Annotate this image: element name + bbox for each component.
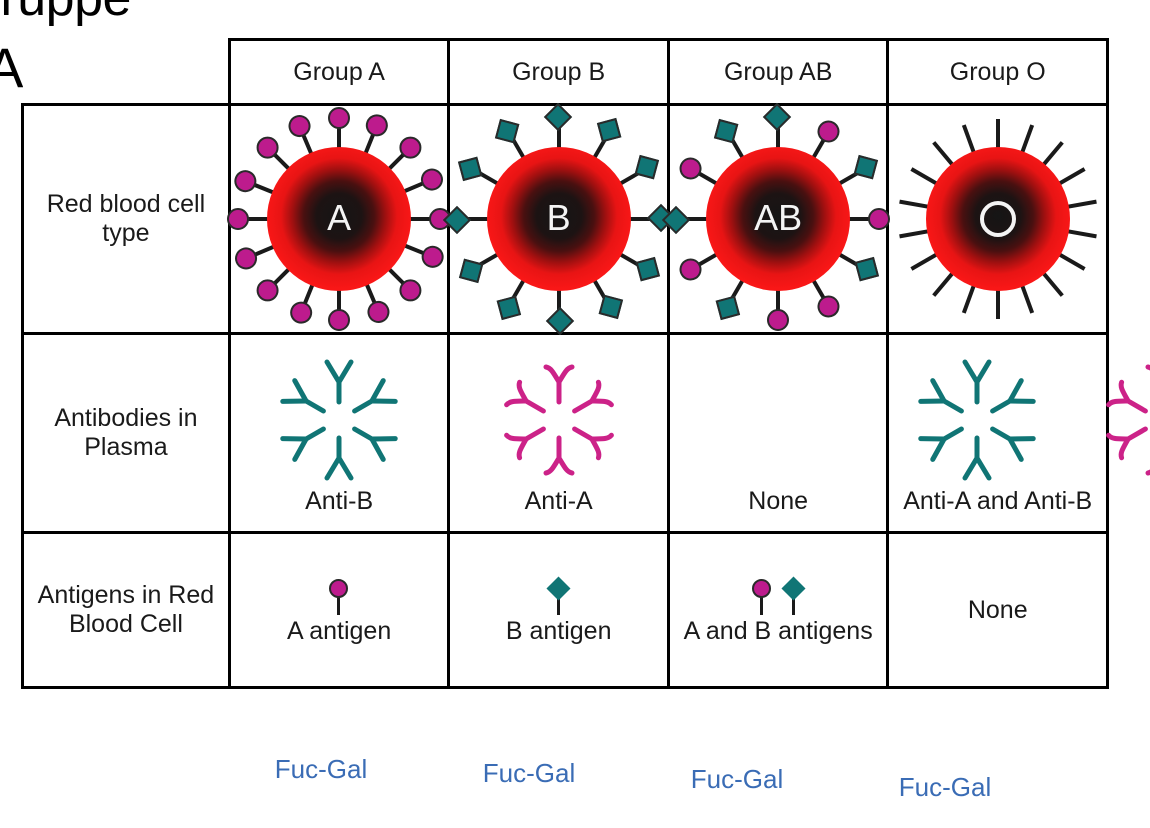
antibody-cell-group-b: Anti-A	[449, 334, 669, 533]
antibody-cluster-magenta	[1073, 354, 1150, 486]
row-label-red-blood-cell-type: Red blood cell type	[23, 105, 230, 334]
a-antigen-icon	[749, 577, 775, 615]
fuc-gal-label-group-o: Fuc-Gal	[841, 756, 1049, 806]
rbc-letter-a: A	[327, 197, 351, 239]
rbc-graphic-o	[898, 114, 1098, 324]
table-row: Antigens in Red Blood Cell A antigen B a…	[23, 533, 1108, 688]
rbc-graphic-a: A	[239, 114, 439, 324]
b-antigen-icon	[781, 577, 807, 615]
antibody-cluster-teal	[251, 354, 427, 486]
antibody-caption-o: Anti-A and Anti-B	[889, 488, 1106, 516]
corner-blank-cell	[23, 40, 230, 105]
column-header-group-o: Group O	[888, 40, 1108, 105]
antibody-caption-ab: None	[670, 488, 887, 516]
antibody-cluster-none	[690, 354, 866, 486]
fuc-gal-label-group-a: Fuc-Gal	[217, 756, 425, 806]
fuc-gal-label-group-ab: Fuc-Gal	[633, 756, 841, 806]
column-header-group-a: Group A	[229, 40, 449, 105]
fuc-gal-footer-row: Fuc-Gal Fuc-Gal Fuc-Gal Fuc-Gal	[21, 756, 1109, 806]
antibody-cell-group-ab: None	[668, 334, 888, 533]
column-header-group-b: Group B	[449, 40, 669, 105]
fuc-gal-label-group-b: Fuc-Gal	[425, 756, 633, 806]
antibody-caption-b: Anti-A	[450, 488, 667, 516]
antigen-cell-group-o: None	[888, 533, 1108, 688]
antigen-caption-o: None	[968, 596, 1028, 624]
blood-type-table: Group A Group B Group AB Group O Red blo…	[21, 38, 1109, 738]
rbc-cell-group-ab: AB	[668, 105, 888, 334]
rbc-cell-group-b: B	[449, 105, 669, 334]
antibody-cluster-both	[889, 354, 1150, 486]
antibody-cell-group-a: Anti-B	[229, 334, 449, 533]
antigen-caption-ab: A and B antigens	[684, 617, 873, 645]
antigen-icons-ab	[749, 575, 807, 615]
antibody-caption-a: Anti-B	[231, 488, 448, 516]
rbc-letter-b: B	[547, 197, 571, 239]
b-antigen-icon	[546, 577, 572, 615]
row-label-antibodies-in-plasma: Antibodies in Plasma	[23, 334, 230, 533]
antigen-icons-a	[326, 575, 352, 615]
rbc-cell-group-a: A	[229, 105, 449, 334]
a-antigen-icon	[326, 577, 352, 615]
antigen-cell-group-ab: A and B antigens	[668, 533, 888, 688]
table-header-row: Group A Group B Group AB Group O	[23, 40, 1108, 105]
antigen-caption-a: A antigen	[287, 617, 391, 645]
antigen-caption-b: B antigen	[506, 617, 612, 645]
antibody-cluster-teal	[889, 354, 1065, 486]
rbc-letter-o	[980, 201, 1016, 237]
cropped-title-line: gruppe	[0, 0, 131, 24]
rbc-graphic-ab: AB	[678, 114, 878, 324]
antibody-cell-group-o: Anti-A and Anti-B	[888, 334, 1108, 533]
rbc-graphic-b: B	[459, 114, 659, 324]
antigen-icons-b	[546, 575, 572, 615]
table-row: Red blood cell type	[23, 105, 1108, 334]
column-header-group-ab: Group AB	[668, 40, 888, 105]
table-row: Antibodies in Plasma	[23, 334, 1108, 533]
rbc-letter-ab: AB	[754, 197, 802, 239]
fuc-gal-spacer	[21, 756, 217, 806]
rbc-cell-group-o	[888, 105, 1108, 334]
antibody-cluster-magenta	[471, 354, 647, 486]
antigen-cell-group-a: A antigen	[229, 533, 449, 688]
antigen-cell-group-b: B antigen	[449, 533, 669, 688]
row-label-antigens-in-red-blood-cell: Antigens in Red Blood Cell	[23, 533, 230, 688]
